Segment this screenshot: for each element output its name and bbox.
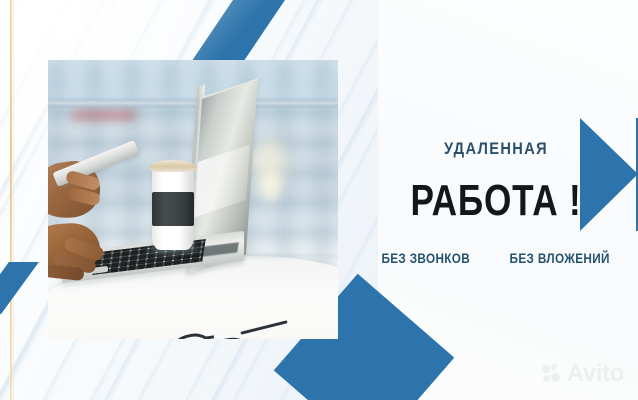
advertisement-banner: УДАЛЕННАЯ РАБОТА ! БЕЗ ЗВОНКОВ БЕЗ ВЛОЖЕ… bbox=[0, 0, 638, 400]
avito-dots-icon bbox=[542, 364, 562, 384]
photo-warm-light-glow-core bbox=[262, 172, 280, 202]
gold-vertical-rule bbox=[10, 0, 12, 400]
avito-watermark: Avito bbox=[542, 362, 624, 386]
photo-eyeglasses-bridge bbox=[204, 335, 214, 339]
headline-text-block: УДАЛЕННАЯ РАБОТА ! БЕЗ ЗВОНКОВ БЕЗ ВЛОЖЕ… bbox=[372, 140, 620, 265]
gold-vertical-rule-secondary bbox=[13, 0, 14, 400]
photo-coffee-cup-lid bbox=[149, 160, 197, 172]
subpoints-row: БЕЗ ЗВОНКОВ БЕЗ ВЛОЖЕНИЙ bbox=[372, 251, 620, 265]
subpoint-no-calls: БЕЗ ЗВОНКОВ bbox=[381, 251, 470, 265]
photo-coffee-cup-sleeve bbox=[152, 192, 194, 226]
page-title: РАБОТА ! bbox=[397, 179, 595, 223]
avito-wordmark: Avito bbox=[567, 362, 624, 386]
subpoint-no-investment: БЕЗ ВЛОЖЕНИЙ bbox=[510, 251, 610, 265]
eyebrow-text: УДАЛЕННАЯ bbox=[389, 140, 602, 157]
photo-window-mullion bbox=[48, 99, 338, 107]
hero-photo bbox=[48, 60, 338, 339]
photo-blurred-red-sign bbox=[72, 110, 136, 120]
